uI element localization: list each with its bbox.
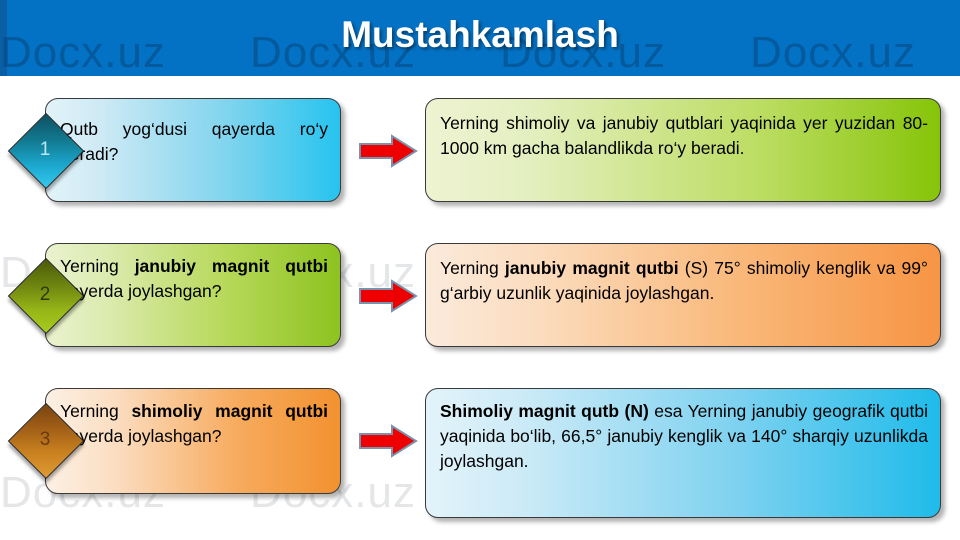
step-badge-number-2: 2 xyxy=(19,269,71,321)
answer-text-1: Yerning shimoliy va janubiy qutblari yaq… xyxy=(440,113,928,158)
step-badge-number-1: 1 xyxy=(19,124,71,176)
answer-text-3: Shimoliy magnit qutb (N) esa Yerning jan… xyxy=(440,401,928,471)
right-arrow-icon-2 xyxy=(358,279,418,313)
question-box-2: Yerning janubiy magnit qutbi qayerda joy… xyxy=(45,243,341,347)
question-text-3: Yerning shimoliy magnit qutbi qayerda jo… xyxy=(60,401,328,446)
step-badge-number-3: 3 xyxy=(19,414,71,466)
question-text-1: Qutb yog‘dusi qayerda ro‘y beradi? xyxy=(60,119,328,164)
answer-box-1: Yerning shimoliy va janubiy qutblari yaq… xyxy=(425,98,941,202)
question-box-3: Yerning shimoliy magnit qutbi qayerda jo… xyxy=(45,388,341,494)
right-arrow-icon-1 xyxy=(358,134,418,168)
content-area: Qutb yog‘dusi qayerda ro‘y beradi? 1 Yer… xyxy=(0,0,960,540)
answer-box-3: Shimoliy magnit qutb (N) esa Yerning jan… xyxy=(425,388,941,518)
answer-box-2: Yerning janubiy magnit qutbi (S) 75° shi… xyxy=(425,243,941,347)
question-text-2: Yerning janubiy magnit qutbi qayerda joy… xyxy=(60,256,328,301)
right-arrow-icon-3 xyxy=(358,424,418,458)
answer-text-2: Yerning janubiy magnit qutbi (S) 75° shi… xyxy=(440,258,928,303)
question-box-1: Qutb yog‘dusi qayerda ro‘y beradi? xyxy=(45,98,341,202)
